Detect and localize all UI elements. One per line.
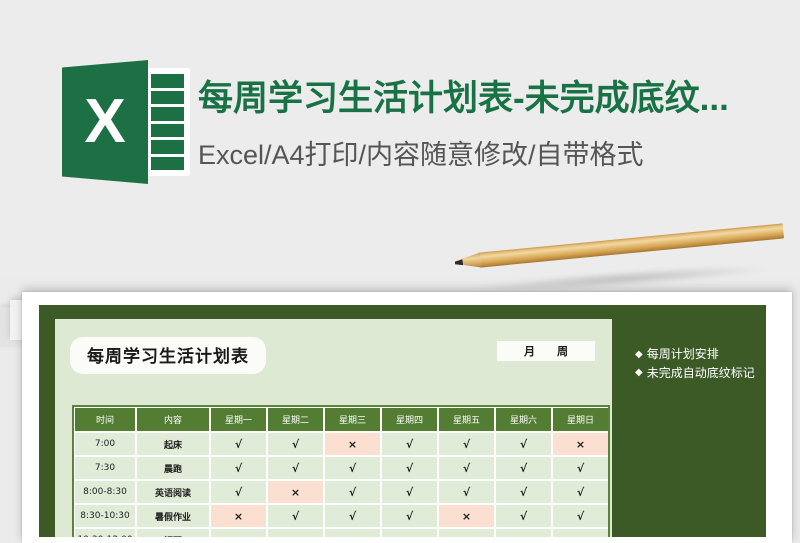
cell-mark[interactable]: √ <box>381 480 438 504</box>
cell-mark[interactable]: √ <box>324 504 381 528</box>
excel-document-flap: X <box>62 60 148 184</box>
table-row: 7:00起床√√×√√√× <box>74 432 609 456</box>
note-text: 每周计划安排 <box>647 345 719 364</box>
cell-mark[interactable]: √ <box>210 456 267 480</box>
table-row: 10:30-12:00钢琴 <box>74 528 609 537</box>
cell-time[interactable]: 10:30-12:00 <box>74 528 136 537</box>
col-header-content: 内容 <box>136 407 210 432</box>
table-row: 7:30晨跑√√√√√√√ <box>74 456 609 480</box>
cell-content[interactable]: 钢琴 <box>136 528 210 537</box>
list-item: ◆ 未完成自动底纹标记 <box>635 364 766 383</box>
col-header-wed: 星期三 <box>324 407 381 432</box>
col-header-time: 时间 <box>74 407 136 432</box>
cell-mark[interactable]: √ <box>381 432 438 456</box>
cell-mark[interactable] <box>324 528 381 537</box>
cell-mark[interactable]: × <box>267 480 324 504</box>
cell-mark[interactable]: √ <box>381 456 438 480</box>
cell-mark[interactable]: √ <box>495 504 552 528</box>
table-header-row: 时间 内容 星期一 星期二 星期三 星期四 星期五 星期六 星期日 <box>74 407 609 432</box>
period-month-label: 月 <box>524 343 535 359</box>
list-item: ◆ 每周计划安排 <box>635 345 766 364</box>
cell-mark[interactable]: √ <box>438 456 495 480</box>
cell-time[interactable]: 7:00 <box>74 432 136 456</box>
cell-mark[interactable]: √ <box>552 456 609 480</box>
page-subtitle: Excel/A4打印/内容随意修改/自带格式 <box>198 133 644 172</box>
cell-mark[interactable]: √ <box>210 480 267 504</box>
period-selector[interactable]: 月 周 <box>497 341 595 361</box>
cell-mark[interactable]: √ <box>495 456 552 480</box>
weekly-plan-table: 时间 内容 星期一 星期二 星期三 星期四 星期五 星期六 星期日 7:00起床… <box>74 407 609 537</box>
cell-mark[interactable]: √ <box>381 504 438 528</box>
col-header-thu: 星期四 <box>381 407 438 432</box>
cell-mark[interactable]: √ <box>210 432 267 456</box>
excel-file-icon: X <box>62 60 190 184</box>
cell-mark[interactable] <box>438 528 495 537</box>
worksheet-title: 每周学习生活计划表 <box>70 337 266 374</box>
cell-mark[interactable]: √ <box>495 480 552 504</box>
col-header-sat: 星期六 <box>495 407 552 432</box>
cell-mark[interactable] <box>381 528 438 537</box>
note-text: 未完成自动底纹标记 <box>647 364 755 383</box>
col-header-mon: 星期一 <box>210 407 267 432</box>
cell-mark[interactable]: √ <box>438 432 495 456</box>
cell-mark[interactable]: × <box>324 432 381 456</box>
table-row: 8:30-10:30暑假作业×√√√×√√ <box>74 504 609 528</box>
worksheet-preview-panel[interactable]: 每周学习生活计划表 月 周 时间 内容 星期一 星期二 星期三 星期四 星期五 <box>39 305 766 537</box>
col-header-tue: 星期二 <box>267 407 324 432</box>
cell-mark[interactable] <box>267 528 324 537</box>
cell-mark[interactable]: √ <box>495 432 552 456</box>
cell-time[interactable]: 8:30-10:30 <box>74 504 136 528</box>
cell-content[interactable]: 英语阅读 <box>136 480 210 504</box>
cell-mark[interactable]: √ <box>267 456 324 480</box>
cell-mark[interactable]: × <box>438 504 495 528</box>
diamond-bullet-icon: ◆ <box>635 365 643 381</box>
table-row: 8:00-8:30英语阅读√×√√√√√ <box>74 480 609 504</box>
cell-time[interactable]: 8:00-8:30 <box>74 480 136 504</box>
cell-content[interactable]: 起床 <box>136 432 210 456</box>
cell-mark[interactable]: √ <box>267 432 324 456</box>
cell-time[interactable]: 7:30 <box>74 456 136 480</box>
col-header-fri: 星期五 <box>438 407 495 432</box>
page-title: 每周学习生活计划表-未完成底纹... <box>198 70 729 121</box>
cell-mark[interactable]: √ <box>324 480 381 504</box>
cell-mark[interactable]: √ <box>552 504 609 528</box>
feature-notes: ◆ 每周计划安排 ◆ 未完成自动底纹标记 <box>635 345 766 382</box>
col-header-sun: 星期日 <box>552 407 609 432</box>
cell-mark[interactable] <box>210 528 267 537</box>
cell-mark[interactable]: √ <box>438 480 495 504</box>
cell-content[interactable]: 暑假作业 <box>136 504 210 528</box>
diamond-bullet-icon: ◆ <box>635 347 643 363</box>
worksheet-content-area: 每周学习生活计划表 月 周 时间 内容 星期一 星期二 星期三 星期四 星期五 <box>55 319 612 537</box>
table-body: 7:00起床√√×√√√×7:30晨跑√√√√√√√8:00-8:30英语阅读√… <box>74 432 609 537</box>
cell-mark[interactable]: √ <box>552 480 609 504</box>
cell-content[interactable]: 晨跑 <box>136 456 210 480</box>
page-bottom-margin <box>22 537 792 543</box>
cell-mark[interactable] <box>552 528 609 537</box>
page-right-margin <box>766 305 792 542</box>
period-week-label: 周 <box>557 343 568 359</box>
cell-mark[interactable]: × <box>552 432 609 456</box>
cell-mark[interactable] <box>495 528 552 537</box>
cell-mark[interactable]: √ <box>267 504 324 528</box>
cell-mark[interactable]: √ <box>324 456 381 480</box>
excel-letter-x: X <box>62 91 148 153</box>
cell-mark[interactable]: × <box>210 504 267 528</box>
